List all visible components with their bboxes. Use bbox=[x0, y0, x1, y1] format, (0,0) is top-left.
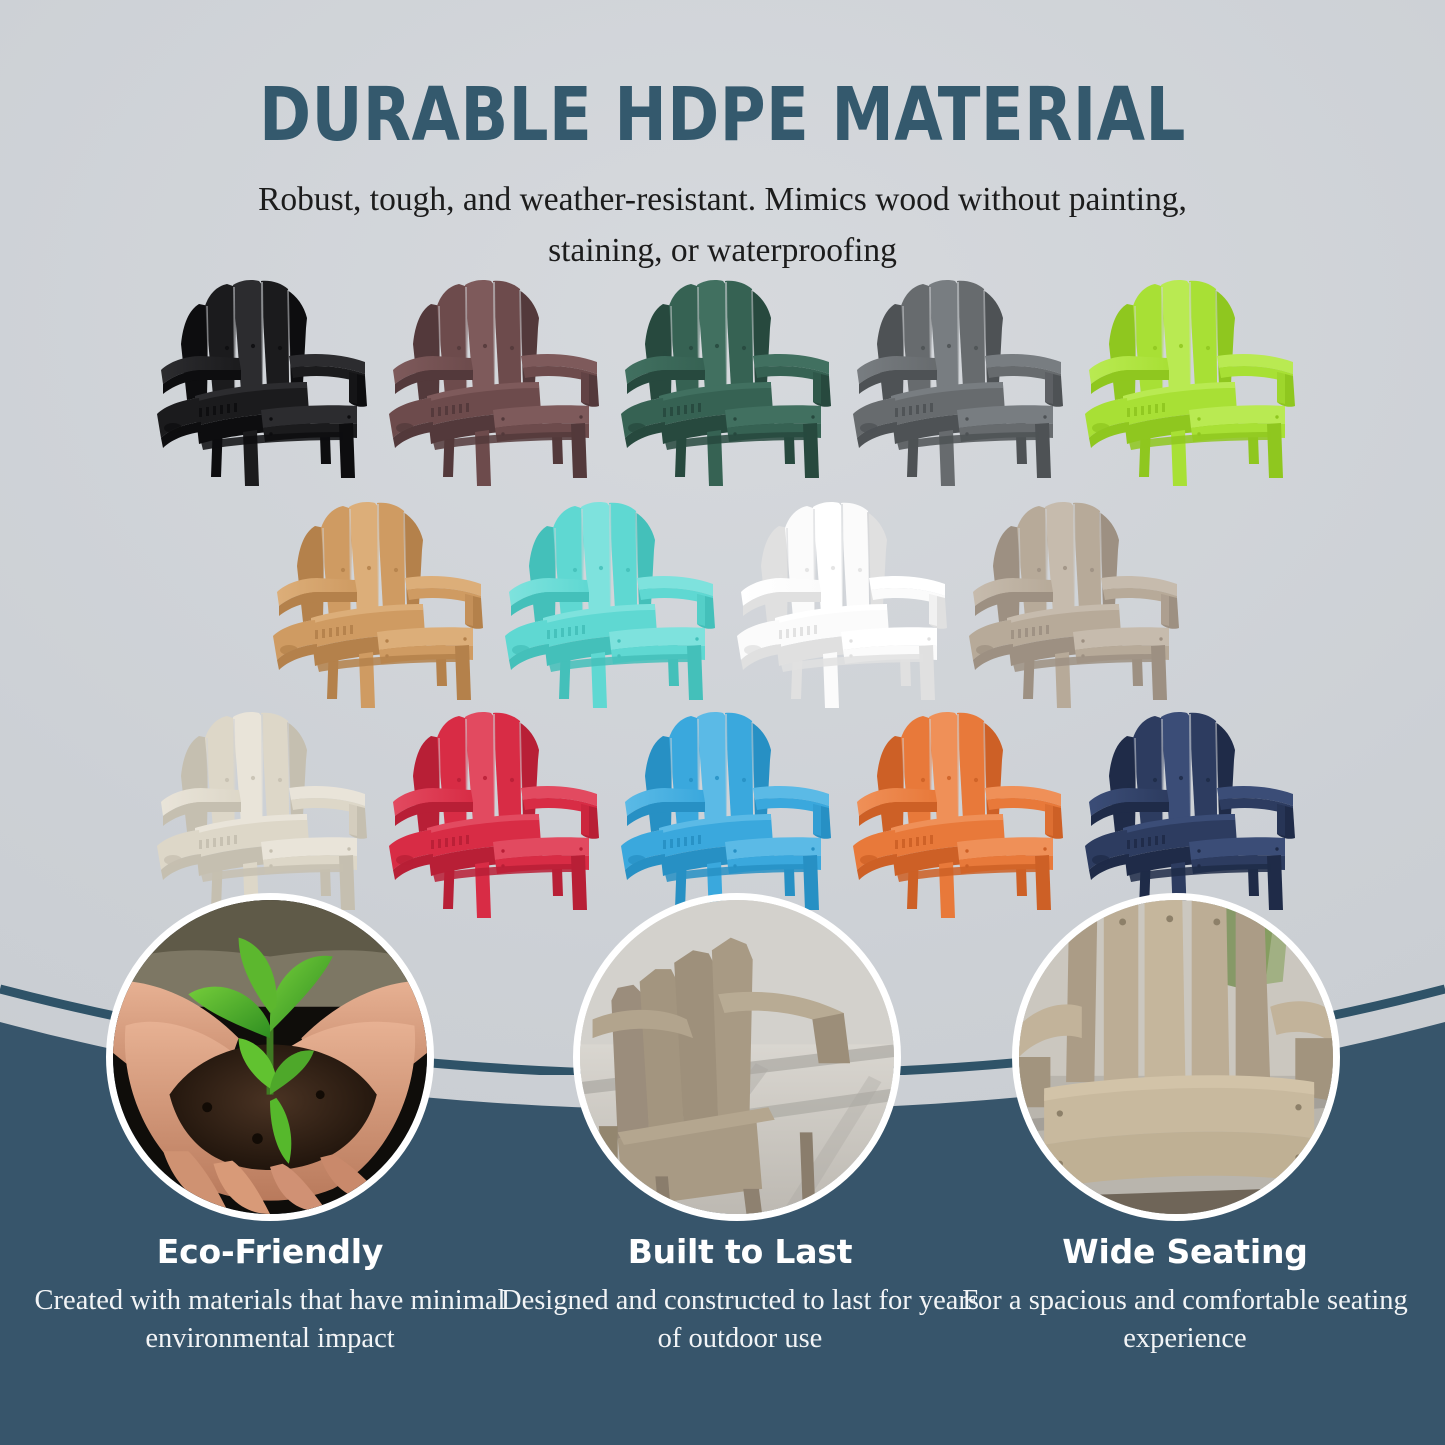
feature-title: Wide Seating bbox=[945, 1232, 1425, 1271]
feature-description: Created with materials that have minimal… bbox=[20, 1282, 520, 1358]
feature-title: Eco-Friendly bbox=[20, 1232, 520, 1271]
chair-row-1 bbox=[0, 272, 1445, 490]
feature-image-eco-friendly bbox=[106, 893, 434, 1221]
chair-image bbox=[375, 272, 607, 490]
feature-description: Designed and constructed to last for yea… bbox=[490, 1282, 990, 1358]
chair-row-2 bbox=[0, 494, 1445, 712]
page-subtitle: Robust, tough, and weather-resistant. Mi… bbox=[222, 174, 1223, 276]
adirondack-chair-illustration bbox=[259, 494, 491, 712]
adirondack-chair-illustration bbox=[723, 494, 955, 712]
chair-swatch-dark-gray[interactable] bbox=[839, 272, 1071, 490]
adirondack-chair-illustration bbox=[375, 272, 607, 490]
adirondack-chair-illustration bbox=[1071, 704, 1303, 922]
chair-swatch-lime-green[interactable] bbox=[1071, 272, 1303, 490]
chair-swatch-light-blue[interactable] bbox=[607, 704, 839, 922]
adirondack-chair-illustration bbox=[143, 704, 375, 922]
adirondack-chair-illustration bbox=[375, 704, 607, 922]
chair-on-patio-icon bbox=[580, 900, 894, 1214]
feature-built-to-last: Built to Last Designed and constructed t… bbox=[490, 1232, 990, 1358]
adirondack-chair-illustration bbox=[607, 272, 839, 490]
seedling-in-hands-icon bbox=[113, 900, 427, 1214]
chair-swatch-camel-tan[interactable] bbox=[259, 494, 491, 712]
chair-image bbox=[1071, 704, 1303, 922]
adirondack-chair-illustration bbox=[491, 494, 723, 712]
adirondack-chair-illustration bbox=[839, 704, 1071, 922]
chair-swatch-ivory[interactable] bbox=[143, 704, 375, 922]
page-title: DURABLE HDPE MATERIAL bbox=[43, 72, 1401, 158]
infographic-canvas: DURABLE HDPE MATERIAL Robust, tough, and… bbox=[0, 0, 1445, 1445]
chair-swatch-taupe-gray[interactable] bbox=[955, 494, 1187, 712]
chair-swatch-red[interactable] bbox=[375, 704, 607, 922]
chair-swatch-orange[interactable] bbox=[839, 704, 1071, 922]
feature-description: For a spacious and comfortable seating e… bbox=[945, 1282, 1425, 1358]
feature-image-wide-seating bbox=[1012, 893, 1340, 1221]
chair-image bbox=[839, 272, 1071, 490]
adirondack-chair-illustration bbox=[607, 704, 839, 922]
adirondack-chair-illustration bbox=[839, 272, 1071, 490]
chair-image bbox=[375, 704, 607, 922]
chair-image bbox=[955, 494, 1187, 712]
feature-title: Built to Last bbox=[490, 1232, 990, 1271]
adirondack-chair-illustration bbox=[143, 272, 375, 490]
chair-seat-closeup-icon bbox=[1019, 900, 1333, 1214]
chair-image bbox=[1071, 272, 1303, 490]
chair-swatch-turquoise[interactable] bbox=[491, 494, 723, 712]
chair-swatch-hunter-green[interactable] bbox=[607, 272, 839, 490]
chair-image bbox=[607, 704, 839, 922]
chair-image bbox=[839, 704, 1071, 922]
chair-swatch-dark-brown[interactable] bbox=[375, 272, 607, 490]
chair-image bbox=[259, 494, 491, 712]
chair-image bbox=[143, 272, 375, 490]
chair-color-grid bbox=[0, 272, 1445, 922]
chair-image bbox=[607, 272, 839, 490]
adirondack-chair-illustration bbox=[1071, 272, 1303, 490]
chair-image bbox=[491, 494, 723, 712]
chair-swatch-black[interactable] bbox=[143, 272, 375, 490]
feature-eco-friendly: Eco-Friendly Created with materials that… bbox=[20, 1232, 520, 1358]
adirondack-chair-illustration bbox=[955, 494, 1187, 712]
chair-swatch-white[interactable] bbox=[723, 494, 955, 712]
feature-image-built-to-last bbox=[573, 893, 901, 1221]
feature-wide-seating: Wide Seating For a spacious and comforta… bbox=[945, 1232, 1425, 1358]
chair-swatch-navy-blue[interactable] bbox=[1071, 704, 1303, 922]
chair-image bbox=[723, 494, 955, 712]
chair-row-3 bbox=[0, 704, 1445, 922]
chair-image bbox=[143, 704, 375, 922]
